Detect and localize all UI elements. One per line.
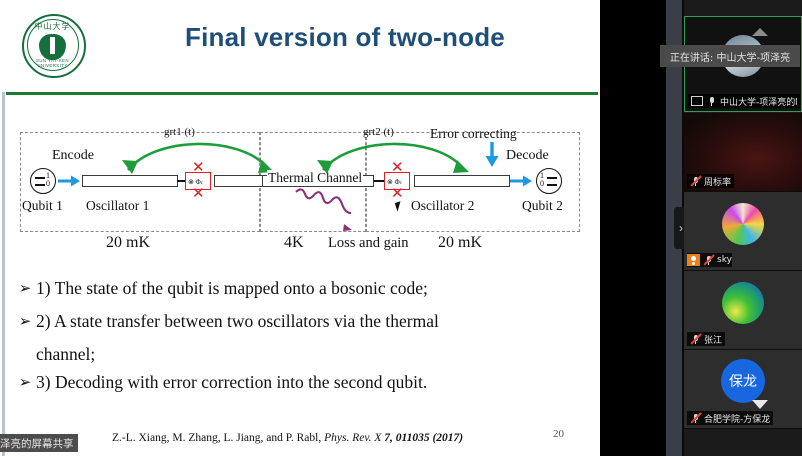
qubit1-label: Qubit 1	[22, 198, 63, 214]
avatar: 保龙	[721, 359, 765, 403]
citation-volume: 7, 011035 (2017)	[381, 432, 463, 444]
slide-page-number: 20	[553, 428, 564, 440]
decode-label: Decode	[506, 148, 549, 164]
oscillator1-label: Oscillator 1	[86, 198, 149, 214]
avatar	[722, 282, 764, 324]
participant-tile-5[interactable]: 保龙 合肥学院-方保龙	[684, 350, 802, 429]
qubit2-label: Qubit 2	[522, 198, 563, 214]
bullet-marker-icon: ➢	[14, 307, 36, 335]
slide-green-divider	[6, 92, 598, 95]
screen-share-status-label: 泽亮的屏幕共享	[0, 434, 78, 452]
temperature-middle: 4K	[284, 234, 304, 252]
bullet-list: ➢ 1) The state of the qubit is mapped on…	[14, 274, 589, 401]
seal-english-text: SUN YAT-SEN UNIVERSITY	[26, 58, 79, 68]
seal-emblem	[39, 34, 66, 60]
screen-share-icon	[691, 96, 703, 106]
qubit2-symbol: 1 0	[536, 168, 562, 194]
loss-gain-squiggle-icon	[294, 188, 356, 232]
temperature-right: 20 mK	[438, 234, 482, 252]
participant-name: 中山大学-项泽亮的眠...	[720, 95, 797, 108]
participant-name: 合肥学院-方保龙	[704, 412, 770, 425]
coupling1-label: grt1 (t)	[164, 126, 195, 138]
bullet-text: 3) Decoding with error correction into t…	[36, 368, 427, 396]
bullet-marker-icon: ➢	[14, 368, 36, 396]
encode-arrow-icon	[58, 174, 82, 188]
scroll-up-arrow-icon[interactable]	[752, 28, 768, 36]
scroll-down-arrow-icon[interactable]	[752, 400, 768, 409]
participant-gallery[interactable]: 中山大学-项泽亮的眠... 周标率 sky	[684, 0, 802, 456]
microphone-on-icon	[706, 96, 717, 107]
seal-chinese-text: 中山大学	[30, 21, 75, 33]
avatar	[722, 203, 764, 245]
oscillator2-label: Oscillator 2	[411, 198, 474, 214]
participant-name-bar-5: 合肥学院-方保龙	[687, 411, 773, 425]
microphone-muted-icon	[690, 413, 701, 424]
shared-screen-area: 中山大学 SUN YAT-SEN UNIVERSITY Final versio…	[0, 0, 600, 456]
participant-tile-4[interactable]: 张江	[684, 271, 802, 350]
coupling1-arc-icon	[116, 134, 278, 178]
participant-name-bar-3: sky	[687, 253, 732, 267]
error-correcting-arrow-icon	[484, 142, 500, 168]
participant-name-bar-2: 周标率	[687, 174, 734, 188]
presentation-slide: 中山大学 SUN YAT-SEN UNIVERSITY Final versio…	[0, 0, 600, 456]
list-item: ➢ 1) The state of the qubit is mapped on…	[14, 274, 589, 302]
bullet-text: 1) The state of the qubit is mapped onto…	[36, 274, 428, 302]
list-item: ➢ 2) A state transfer between two oscill…	[14, 307, 589, 335]
error-correcting-label: Error correcting	[430, 126, 517, 142]
temperature-left: 20 mK	[106, 234, 150, 252]
citation: Z.-L. Xiang, M. Zhang, L. Jiang, and P. …	[112, 432, 463, 444]
microphone-muted-icon	[703, 255, 714, 266]
participant-name: 张江	[704, 333, 722, 346]
active-speaker-tooltip: 正在讲话: 中山大学-项泽亮	[660, 45, 800, 67]
circuit-diagram: Encode 1 0 ⊗ Φc ✕	[6, 126, 594, 266]
participant-name: sky	[717, 255, 732, 265]
qubit1-level-0: 0	[46, 179, 50, 188]
coupling2-label: grt2 (t)	[363, 126, 394, 138]
page-title: Final version of two-node	[110, 22, 580, 53]
microphone-muted-icon	[690, 176, 701, 187]
avatar-initials: 保龙	[721, 359, 765, 403]
participant-name: 周标率	[704, 175, 731, 188]
loss-and-gain-label: Loss and gain	[328, 235, 409, 252]
citation-journal: Phys. Rev. X	[324, 432, 381, 444]
participant-tile-3[interactable]: sky	[684, 192, 802, 271]
bullet-marker-icon: ➢	[14, 274, 36, 302]
participant-name-bar-1: 中山大学-项泽亮的眠...	[688, 94, 800, 108]
list-item: ➢ 3) Decoding with error correction into…	[14, 368, 589, 396]
participant-tile-2[interactable]: 周标率	[684, 113, 802, 192]
qubit2-level-0: 0	[540, 179, 544, 188]
decode-arrow-icon	[510, 174, 534, 188]
qubit1-symbol: 1 0	[30, 168, 56, 194]
encode-label: Encode	[52, 148, 94, 164]
bullet-text: 2) A state transfer between two oscillat…	[36, 307, 439, 335]
microphone-muted-icon	[690, 334, 701, 345]
junction2-cross-bottom: ✕	[391, 188, 404, 198]
bullet-text-continuation: channel;	[36, 340, 589, 368]
host-icon	[687, 254, 700, 266]
university-seal-logo: 中山大学 SUN YAT-SEN UNIVERSITY	[22, 14, 84, 76]
zoom-screen-share-window: 中山大学 SUN YAT-SEN UNIVERSITY Final versio…	[0, 0, 802, 456]
citation-authors: Z.-L. Xiang, M. Zhang, L. Jiang, and P. …	[112, 432, 324, 444]
participant-name-bar-4: 张江	[687, 332, 725, 346]
junction1-cross-bottom: ✕	[192, 188, 205, 198]
participant-rail: › 中山大学-项泽亮的眠... 周标率	[600, 0, 802, 456]
